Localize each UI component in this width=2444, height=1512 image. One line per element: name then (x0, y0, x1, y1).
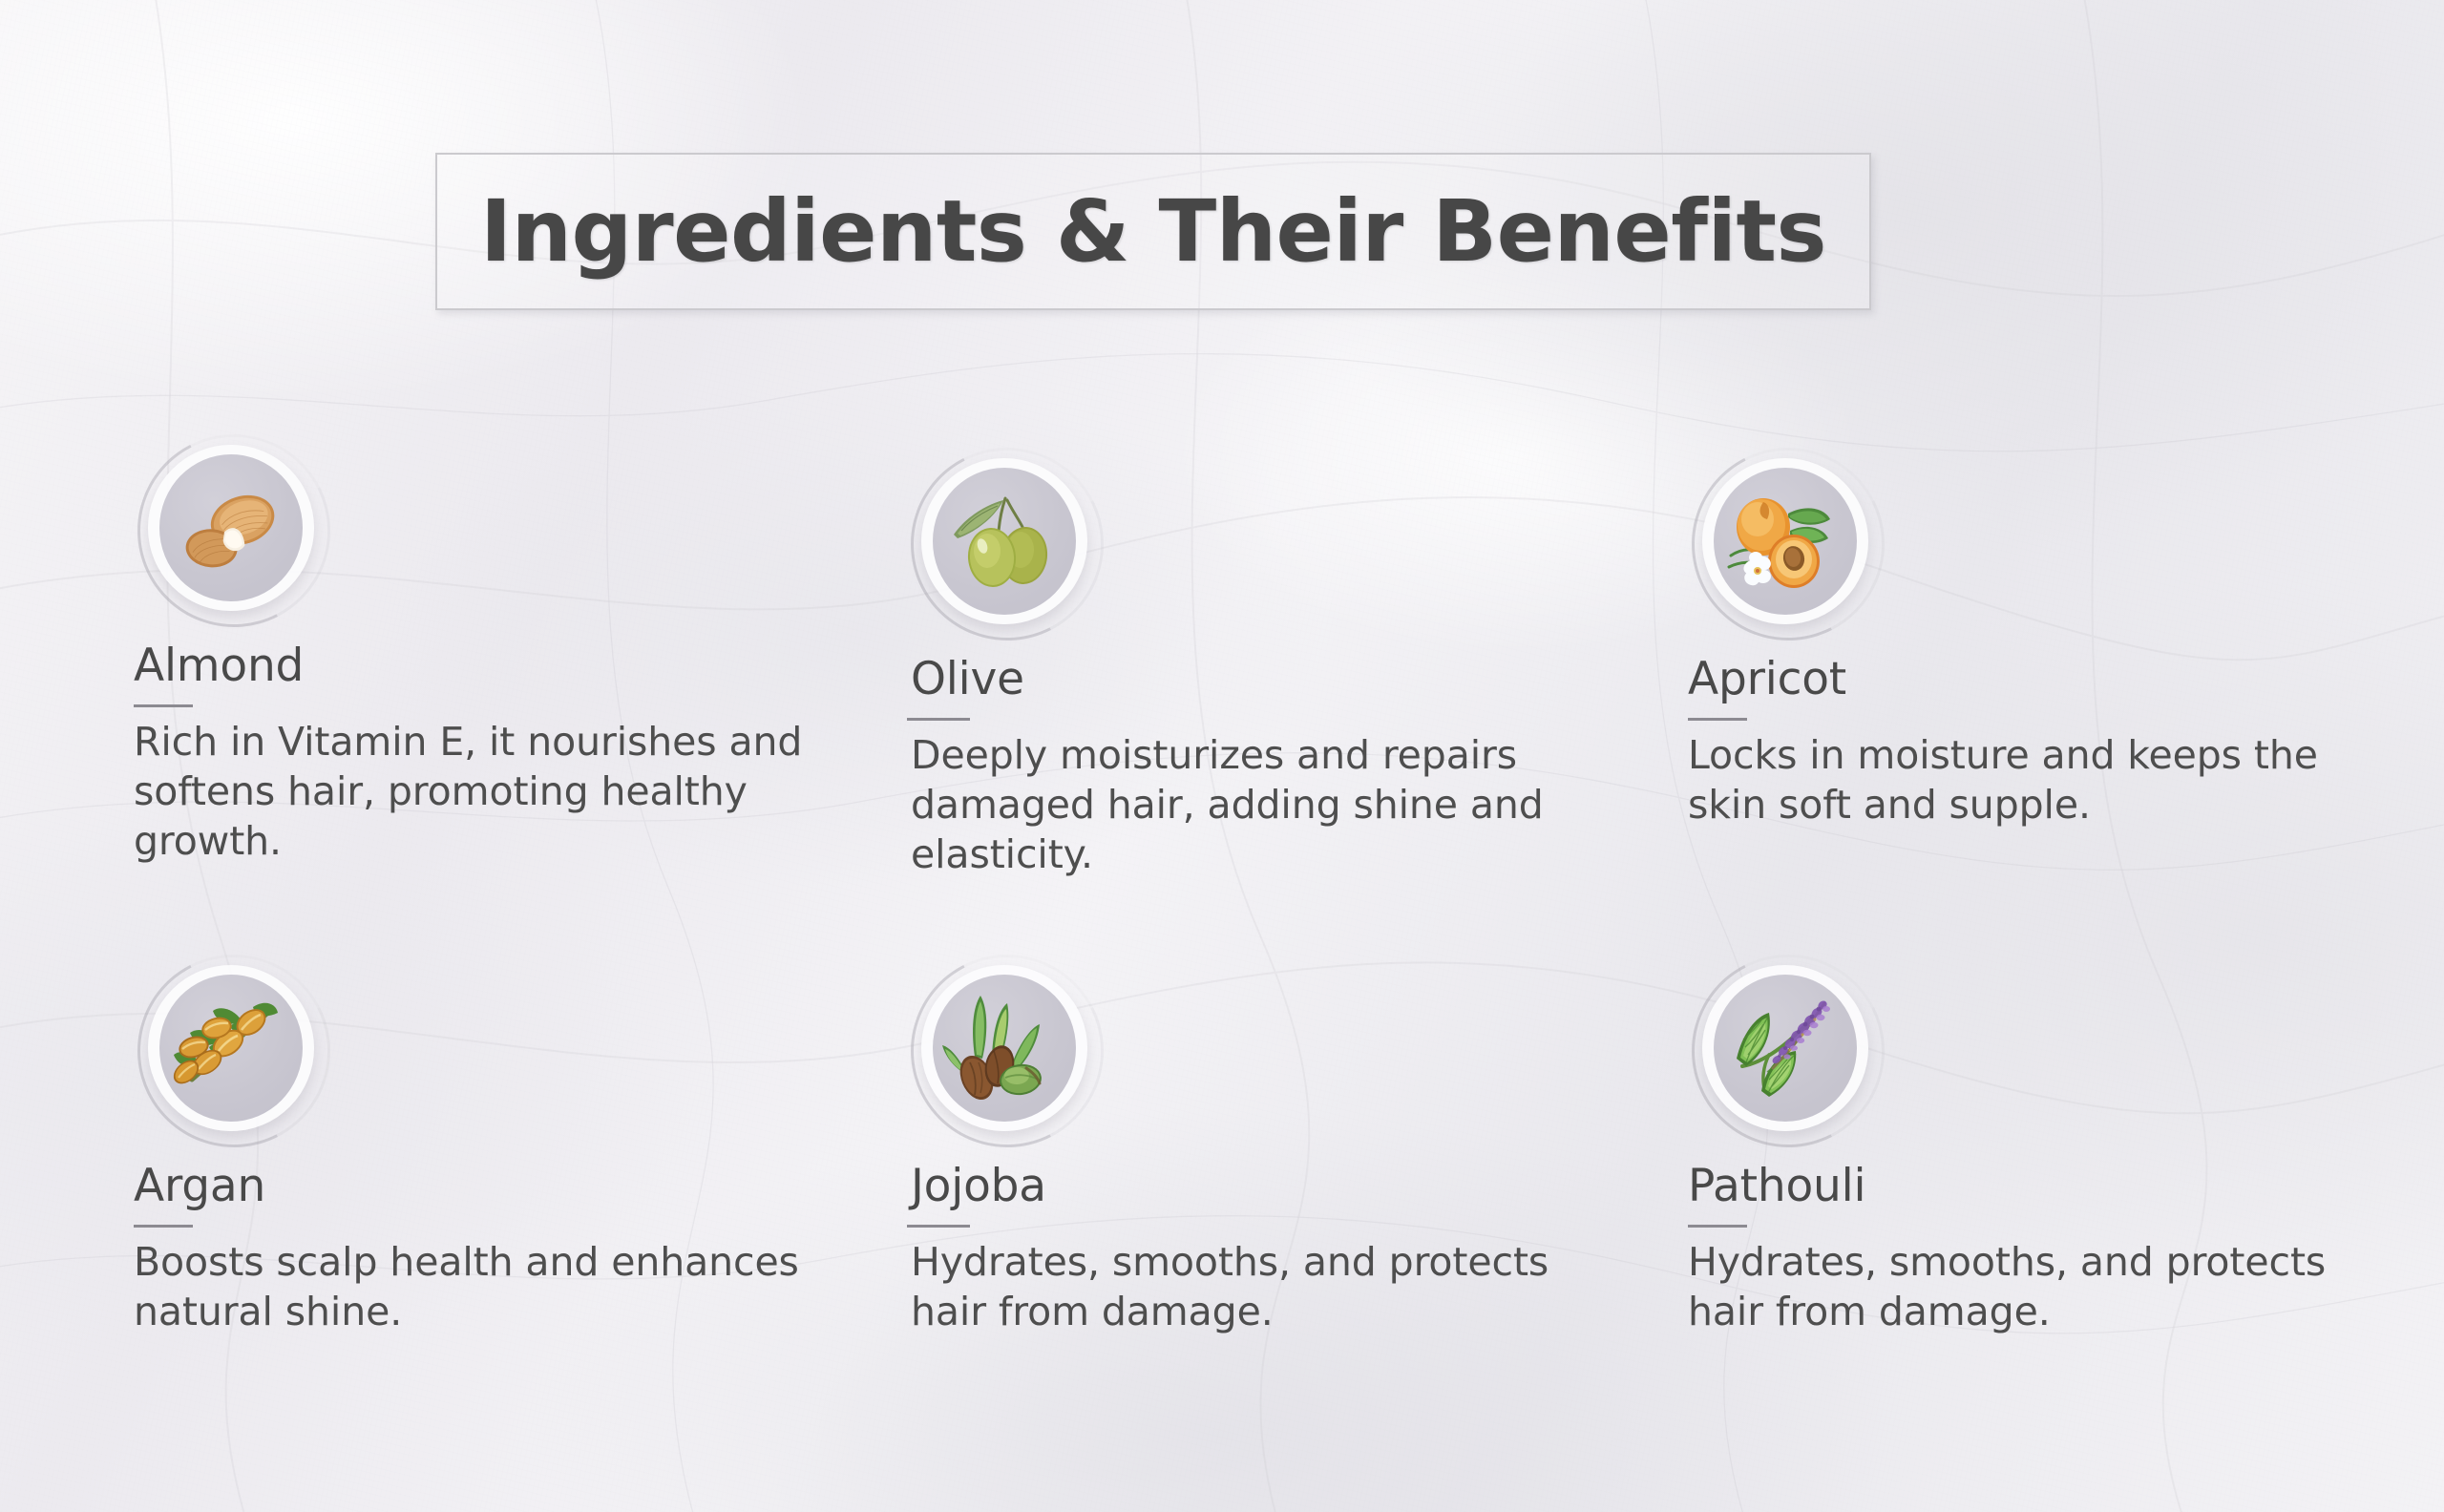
badge-disc (159, 975, 303, 1122)
ingredient-description: Boosts scalp health and enhances natural… (134, 1238, 831, 1336)
ingredients-row-2: Argan Boosts scalp health and enhances n… (0, 955, 2444, 1475)
ingredients-row-1: Almond Rich in Vitamin E, it nourishes a… (0, 434, 2444, 955)
olive-badge (911, 448, 1098, 635)
name-divider (907, 718, 970, 721)
badge-disc (1714, 975, 1857, 1122)
almond-badge (137, 434, 325, 621)
ingredient-card-apricot[interactable]: Apricot Locks in moisture and keeps the … (1688, 448, 2413, 830)
apricot-icon (1714, 468, 1857, 615)
ingredient-description: Hydrates, smooths, and protects hair fro… (1688, 1238, 2385, 1336)
name-divider (907, 1225, 970, 1228)
ingredient-name: Pathouli (1688, 1163, 2413, 1209)
argan-badge (137, 955, 325, 1142)
name-divider (134, 704, 193, 707)
badge-disc (1714, 468, 1857, 615)
ingredient-description: Deeply moisturizes and repairs damaged h… (907, 731, 1608, 879)
card-text: Almond Rich in Vitamin E, it nourishes a… (134, 642, 859, 866)
ingredient-name: Jojoba (907, 1163, 1633, 1209)
olive-icon (933, 468, 1076, 615)
jojoba-icon (933, 975, 1076, 1122)
ingredient-description: Hydrates, smooths, and protects hair fro… (907, 1238, 1608, 1336)
ingredient-card-jojoba[interactable]: Jojoba Hydrates, smooths, and protects h… (907, 955, 1633, 1337)
ingredient-card-olive[interactable]: Olive Deeply moisturizes and repairs dam… (907, 448, 1633, 879)
ingredient-name: Olive (907, 656, 1633, 703)
card-text: Argan Boosts scalp health and enhances n… (134, 1163, 859, 1337)
name-divider (1688, 718, 1747, 721)
card-text: Pathouli Hydrates, smooths, and protects… (1688, 1163, 2413, 1337)
ingredient-card-pathouli[interactable]: Pathouli Hydrates, smooths, and protects… (1688, 955, 2413, 1337)
card-text: Apricot Locks in moisture and keeps the … (1688, 656, 2413, 830)
argan-icon (159, 975, 303, 1122)
almond-icon (159, 454, 303, 601)
page-title: Ingredients & Their Benefits (480, 189, 1826, 274)
name-divider (1688, 1225, 1747, 1228)
badge-disc (933, 975, 1076, 1122)
name-divider (134, 1225, 193, 1228)
ingredient-name: Argan (134, 1163, 859, 1209)
ingredient-description: Locks in moisture and keeps the skin sof… (1688, 731, 2385, 829)
apricot-badge (1692, 448, 1879, 635)
ingredients-grid: Almond Rich in Vitamin E, it nourishes a… (0, 434, 2444, 1475)
title-frame: Ingredients & Their Benefits (435, 153, 1871, 310)
jojoba-badge (911, 955, 1098, 1142)
badge-disc (933, 468, 1076, 615)
ingredient-name: Apricot (1688, 656, 2413, 703)
pathouli-badge (1692, 955, 1879, 1142)
badge-disc (159, 454, 303, 601)
card-text: Jojoba Hydrates, smooths, and protects h… (907, 1163, 1633, 1337)
ingredient-name: Almond (134, 642, 859, 689)
ingredient-card-argan[interactable]: Argan Boosts scalp health and enhances n… (134, 955, 859, 1337)
ingredient-card-almond[interactable]: Almond Rich in Vitamin E, it nourishes a… (134, 434, 859, 866)
card-text: Olive Deeply moisturizes and repairs dam… (907, 656, 1633, 879)
ingredient-description: Rich in Vitamin E, it nourishes and soft… (134, 718, 831, 866)
pathouli-icon (1714, 975, 1857, 1122)
